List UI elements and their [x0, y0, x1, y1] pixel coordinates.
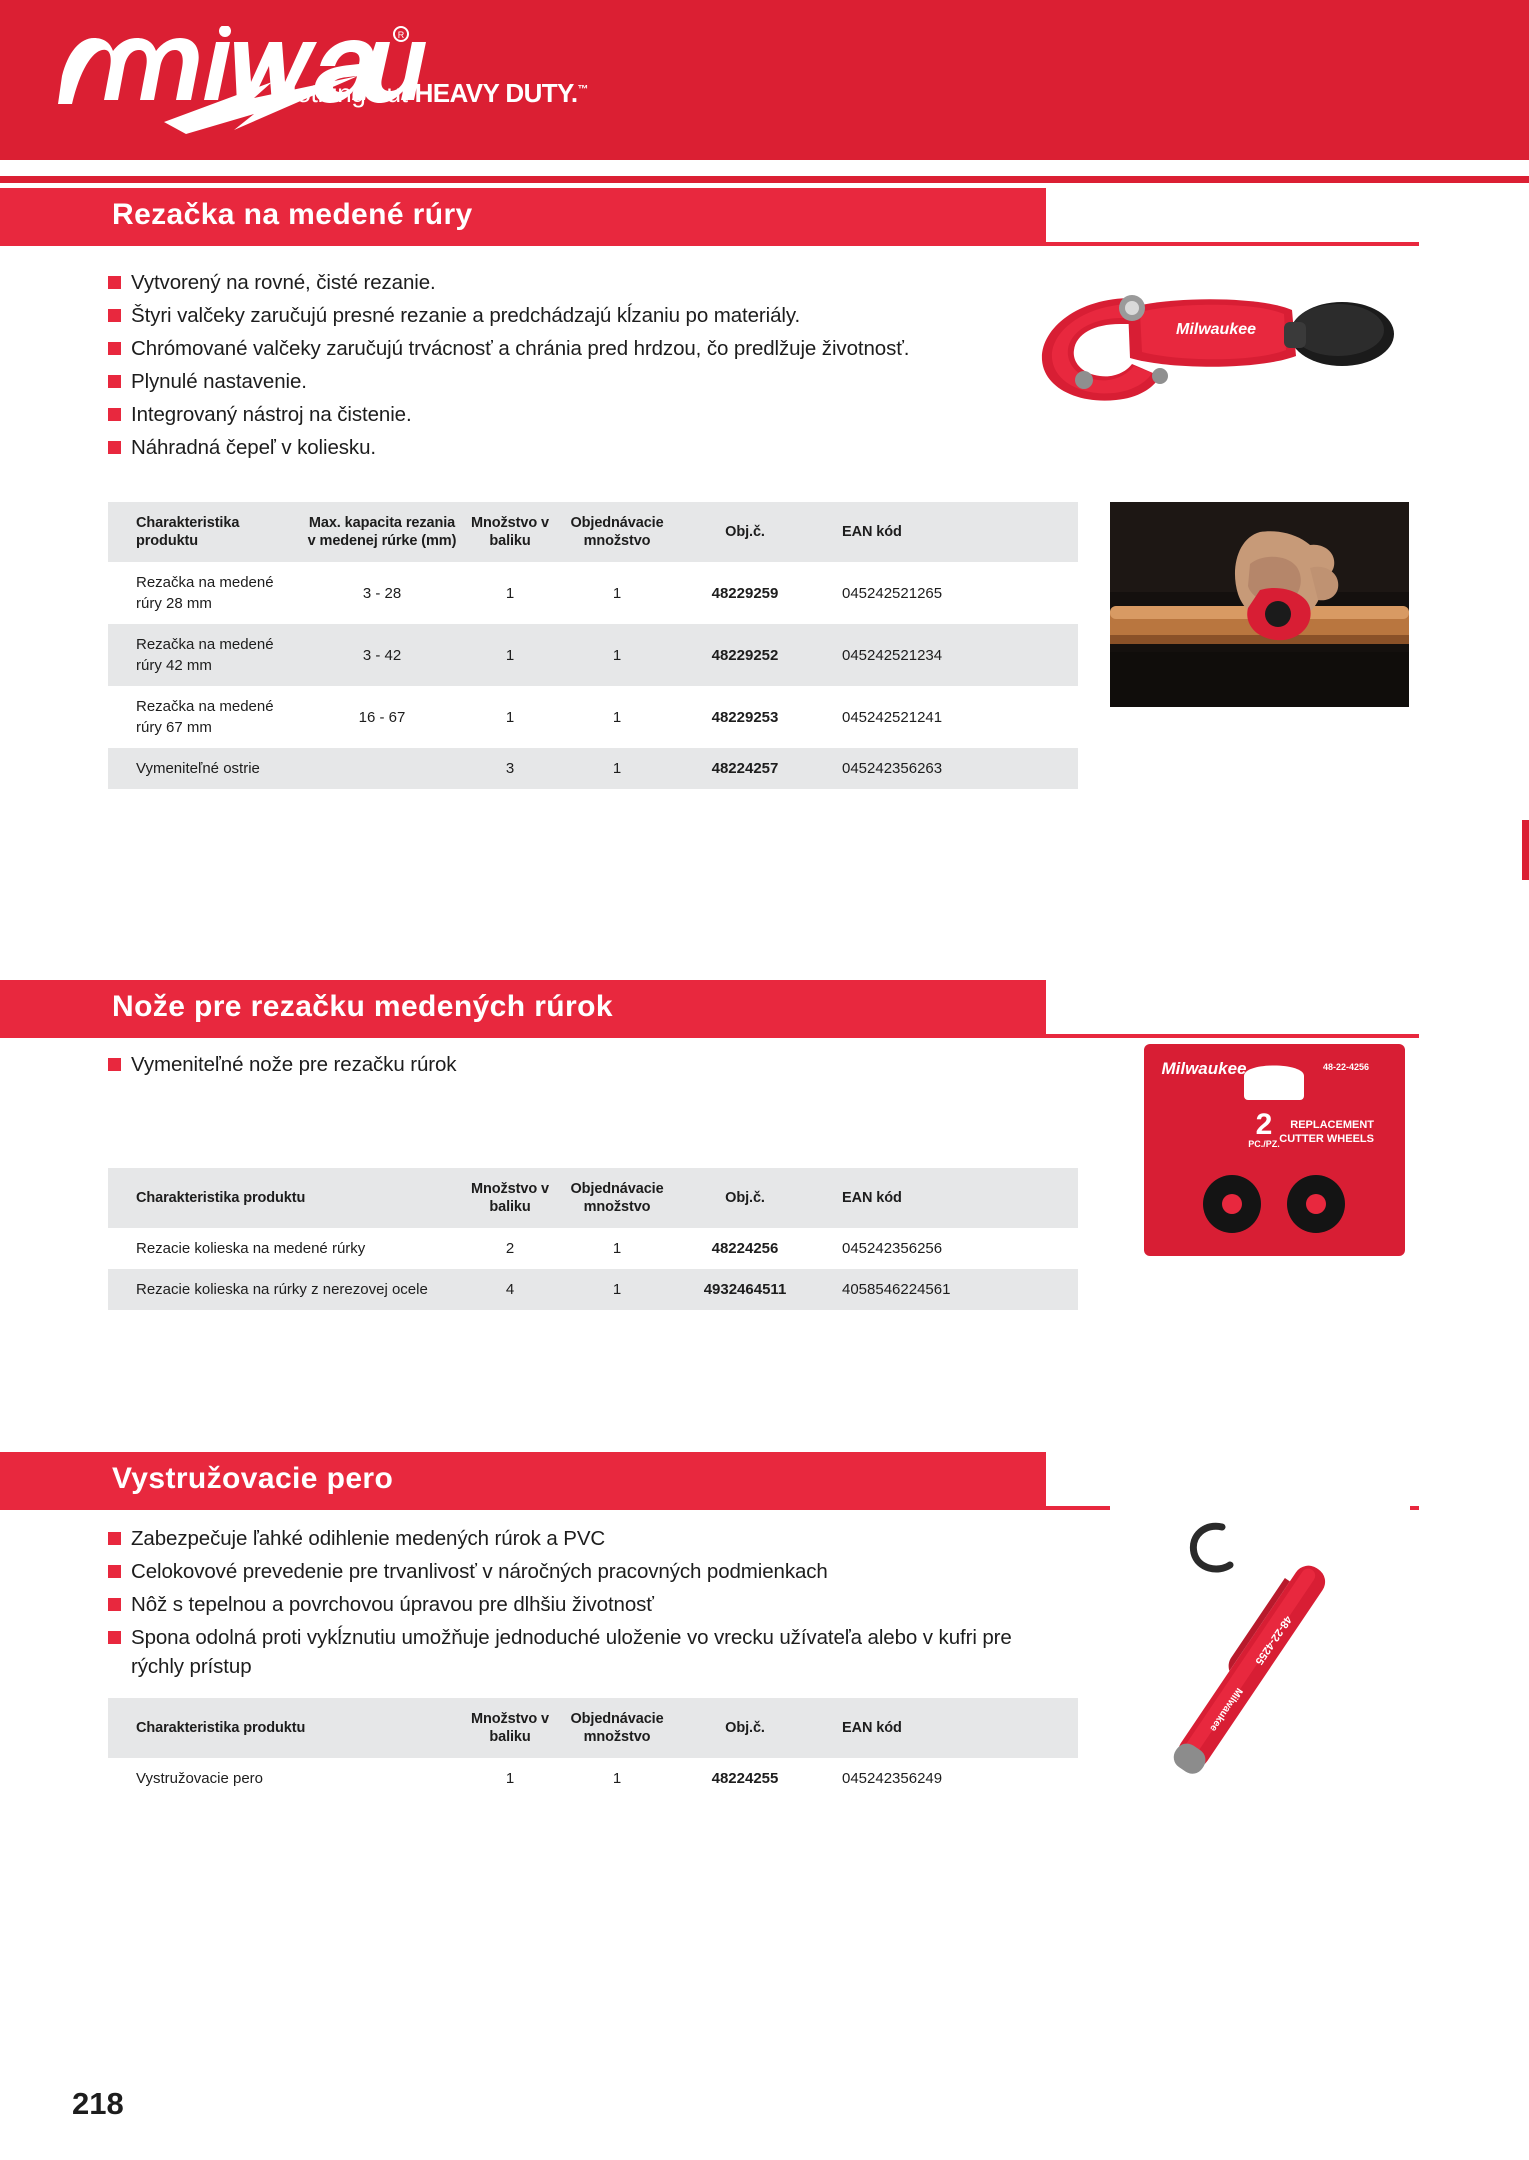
cell-pack-qty: 1 [462, 1758, 558, 1799]
list-item: Integrovaný nástroj na čistenie. [108, 400, 968, 429]
column-header-pack-qty: Množstvo v baliku [462, 1168, 558, 1228]
column-header-order-qty: Objed­návacie množstvo [558, 1698, 676, 1758]
cell-order-qty: 1 [558, 624, 676, 686]
cell-pack-qty: 1 [462, 686, 558, 748]
bullet-text: Spona odolná proti vykĺznutiu umožňuje j… [131, 1623, 1028, 1681]
table-row: Rezačka na medené rúry 42 mm 3 - 42 1 1 … [108, 624, 1078, 686]
cell-order-qty: 1 [558, 1269, 676, 1310]
cell-pack-qty: 1 [462, 562, 558, 624]
svg-text:48-22-4256: 48-22-4256 [1323, 1062, 1369, 1072]
list-item: Nôž s tepelnou a povrchovou úpravou pre … [108, 1590, 1028, 1619]
spec-table-noze: Charakteristika produktu Množstvo v bali… [108, 1168, 1078, 1310]
trademark-symbol: ™ [578, 83, 589, 95]
bullet-text: Zabezpečuje ľahké odihlenie medených rúr… [131, 1524, 605, 1553]
square-bullet-icon [108, 375, 121, 388]
square-bullet-icon [108, 1565, 121, 1578]
cell-order-no: 48229252 [676, 624, 814, 686]
cell-characteristic: Vymeniteľné ostrie [108, 748, 302, 789]
table-header-row: Charakteristika produktu Max. kapacita r… [108, 502, 1078, 562]
replacement-cutter-wheels-pack-photo: Milwaukee 48-22-4256 2 PC./PZ. REPLACEME… [1140, 1040, 1409, 1260]
svg-text:Milwaukee: Milwaukee [1161, 1059, 1246, 1078]
cell-ean: 4058546224561 [814, 1269, 1078, 1310]
column-header-order-no: Obj.č. [676, 1698, 814, 1758]
spec-table-pero: Charakteristika produktu Množstvo v bali… [108, 1698, 1078, 1799]
column-header-ean: EAN kód [814, 1698, 1078, 1758]
list-item: Vytvorený na rovné, čisté rezanie. [108, 268, 968, 297]
spec-table-rezacka: Charakteristika produktu Max. kapacita r… [108, 502, 1078, 789]
bullet-list-rezacka: Vytvorený na rovné, čisté rezanie. Štyri… [108, 268, 968, 466]
tagline-prefix: Nothing but [278, 78, 415, 108]
square-bullet-icon [108, 309, 121, 322]
square-bullet-icon [108, 1631, 121, 1644]
section-title-text: Rezačka na medené rúry [112, 198, 473, 232]
bullet-text: Štyri valčeky zaručujú presné rezanie a … [131, 301, 800, 330]
table-row: Rezacie kolieska na medené rúrky 2 1 482… [108, 1228, 1078, 1269]
square-bullet-icon [108, 276, 121, 289]
cell-order-qty: 1 [558, 1228, 676, 1269]
cell-ean: 045242521234 [814, 624, 1078, 686]
table-row: Vymeniteľné ostrie 3 1 48224257 04524235… [108, 748, 1078, 789]
cell-ean: 045242356249 [814, 1758, 1078, 1799]
svg-text:R: R [398, 30, 405, 40]
section-title-text: Vystružovacie pero [112, 1462, 393, 1496]
section-title-text: Nože pre rezačku medených rúrok [112, 990, 613, 1024]
svg-text:PC./PZ.: PC./PZ. [1248, 1139, 1280, 1149]
cell-pack-qty: 2 [462, 1228, 558, 1269]
section-title-rezacka: Rezačka na medené rúry [0, 188, 1046, 242]
cell-capacity: 3 - 42 [302, 624, 462, 686]
cell-characteristic: Vystružovacie pero [108, 1758, 462, 1799]
section-underline-noze [0, 1034, 1419, 1038]
cell-order-no: 4932464511 [676, 1269, 814, 1310]
page-edge-marker [1522, 820, 1529, 880]
column-header-characteristic: Charakteristika produktu [108, 502, 302, 562]
table-row: Vystružovacie pero 1 1 48224255 04524235… [108, 1758, 1078, 1799]
column-header-order-no: Obj.č. [676, 1168, 814, 1228]
cell-ean: 045242356263 [814, 748, 1078, 789]
cell-capacity: 3 - 28 [302, 562, 462, 624]
cell-capacity: 16 - 67 [302, 686, 462, 748]
catalog-page: R Nothing but HEAVY DUTY.™ Rezačka na me… [0, 0, 1529, 2160]
cell-pack-qty: 3 [462, 748, 558, 789]
cell-order-qty: 1 [558, 1758, 676, 1799]
cell-order-qty: 1 [558, 562, 676, 624]
table-row: Rezačka na medené rúry 67 mm 16 - 67 1 1… [108, 686, 1078, 748]
list-item: Plynulé nastavenie. [108, 367, 968, 396]
column-header-ean: EAN kód [814, 502, 1078, 562]
cell-order-no: 48229253 [676, 686, 814, 748]
list-item: Náhradná čepeľ v koliesku. [108, 433, 968, 462]
cell-ean: 045242356256 [814, 1228, 1078, 1269]
tube-cutter-product-photo: Milwaukee [1020, 272, 1410, 412]
column-header-pack-qty: Množstvo v baliku [462, 502, 558, 562]
svg-text:2: 2 [1256, 1108, 1273, 1141]
bullet-text: Vytvorený na rovné, čisté rezanie. [131, 268, 436, 297]
column-header-order-qty: Objed­návacie množstvo [558, 1168, 676, 1228]
brand-tagline: Nothing but HEAVY DUTY.™ [278, 78, 588, 109]
bullet-text: Celokovové prevedenie pre trvanlivosť v … [131, 1557, 828, 1586]
bullet-text: Vymeniteľné nože pre rezačku rúrok [131, 1050, 456, 1079]
section-title-pero: Vystružovacie pero [0, 1452, 1046, 1506]
column-header-order-no: Obj.č. [676, 502, 814, 562]
list-item: Chrómované valčeky zaručujú trvácnosť a … [108, 334, 968, 363]
list-item: Vymeniteľné nože pre rezačku rúrok [108, 1050, 968, 1079]
cell-characteristic: Rezačka na medené rúry 67 mm [108, 686, 302, 748]
list-item: Zabezpečuje ľahké odihlenie medených rúr… [108, 1524, 1028, 1553]
column-header-order-qty: Objed­návacie množstvo [558, 502, 676, 562]
bullet-list-pero: Zabezpečuje ľahké odihlenie medených rúr… [108, 1524, 1028, 1685]
cell-order-no: 48224256 [676, 1228, 814, 1269]
bullet-text: Plynulé nastavenie. [131, 367, 307, 396]
deburring-pen-photo: 48-22-4255 Milwaukee [1110, 1505, 1410, 1810]
list-item: Štyri valčeky zaručujú presné rezanie a … [108, 301, 968, 330]
cell-characteristic: Rezačka na medené rúry 28 mm [108, 562, 302, 624]
table-row: Rezacie kolieska na rúrky z nerezovej oc… [108, 1269, 1078, 1310]
cell-capacity [302, 748, 462, 789]
tube-cutter-in-use-photo [1110, 502, 1409, 707]
square-bullet-icon [108, 408, 121, 421]
bullet-text: Chrómované valčeky zaručujú trvácnosť a … [131, 334, 909, 363]
list-item: Spona odolná proti vykĺznutiu umožňuje j… [108, 1623, 1028, 1681]
section-title-noze: Nože pre rezačku medených rúrok [0, 980, 1046, 1034]
cell-order-no: 48224257 [676, 748, 814, 789]
cell-ean: 045242521241 [814, 686, 1078, 748]
square-bullet-icon [108, 1532, 121, 1545]
cell-ean: 045242521265 [814, 562, 1078, 624]
section-underline-rezacka [0, 242, 1419, 246]
square-bullet-icon [108, 1598, 121, 1611]
bullet-text: Integrovaný nástroj na čistenie. [131, 400, 412, 429]
svg-text:Milwaukee: Milwaukee [1176, 321, 1256, 338]
svg-text:CUTTER WHEELS: CUTTER WHEELS [1279, 1133, 1374, 1145]
brand-header: R Nothing but HEAVY DUTY.™ [0, 0, 1529, 160]
cell-order-qty: 1 [558, 686, 676, 748]
cell-pack-qty: 1 [462, 624, 558, 686]
table-header-row: Charakteristika produktu Množstvo v bali… [108, 1168, 1078, 1228]
page-number: 218 [72, 2086, 124, 2122]
bullet-text: Náhradná čepeľ v koliesku. [131, 433, 376, 462]
cell-order-no: 48229259 [676, 562, 814, 624]
tagline-bold: HEAVY DUTY. [415, 78, 578, 108]
column-header-characteristic: Charakteristika produktu [108, 1698, 462, 1758]
square-bullet-icon [108, 1058, 121, 1071]
cell-characteristic: Rezacie kolieska na rúrky z nerezovej oc… [108, 1269, 462, 1310]
header-red-rule [0, 176, 1529, 183]
cell-characteristic: Rezačka na medené rúry 42 mm [108, 624, 302, 686]
column-header-capacity: Max. kapacita rezania v medenej rúrke (m… [302, 502, 462, 562]
header-white-gap [0, 160, 1529, 176]
cell-order-qty: 1 [558, 748, 676, 789]
column-header-pack-qty: Množstvo v baliku [462, 1698, 558, 1758]
table-row: Rezačka na medené rúry 28 mm 3 - 28 1 1 … [108, 562, 1078, 624]
bullet-text: Nôž s tepelnou a povrchovou úpravou pre … [131, 1590, 654, 1619]
square-bullet-icon [108, 342, 121, 355]
cell-pack-qty: 4 [462, 1269, 558, 1310]
column-header-ean: EAN kód [814, 1168, 1078, 1228]
svg-text:REPLACEMENT: REPLACEMENT [1290, 1119, 1374, 1131]
square-bullet-icon [108, 441, 121, 454]
column-header-characteristic: Charakteristika produktu [108, 1168, 462, 1228]
cell-characteristic: Rezacie kolieska na medené rúrky [108, 1228, 462, 1269]
bullet-list-noze: Vymeniteľné nože pre rezačku rúrok [108, 1050, 968, 1083]
cell-order-no: 48224255 [676, 1758, 814, 1799]
list-item: Celokovové prevedenie pre trvanlivosť v … [108, 1557, 1028, 1586]
table-header-row: Charakteristika produktu Množstvo v bali… [108, 1698, 1078, 1758]
